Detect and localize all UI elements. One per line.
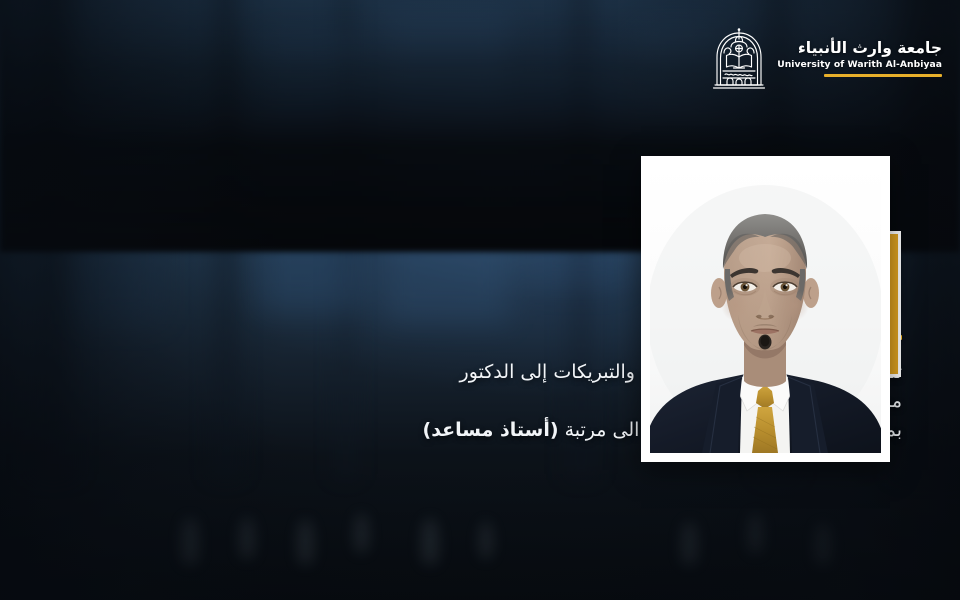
university-name-english: University of Warith Al-Anbiyaa <box>777 58 942 72</box>
university-name-block: جامعة وارث الأنبياء University of Warith… <box>777 39 942 77</box>
university-logo-lockup[interactable]: جامعة وارث الأنبياء University of Warith… <box>711 27 942 89</box>
portrait-photo: portrait photo of the honored doctor wea… <box>650 165 881 453</box>
university-name-arabic: جامعة وارث الأنبياء <box>777 39 942 58</box>
portrait-frame: portrait photo of the honored doctor wea… <box>641 156 890 462</box>
congratulation-banner: جامعة وارث الأنبياء University of Warith… <box>0 0 960 600</box>
message-academic-rank: (أستاذ مساعد) <box>423 419 559 441</box>
university-name-underline <box>824 74 942 77</box>
university-crest-icon <box>711 27 767 89</box>
